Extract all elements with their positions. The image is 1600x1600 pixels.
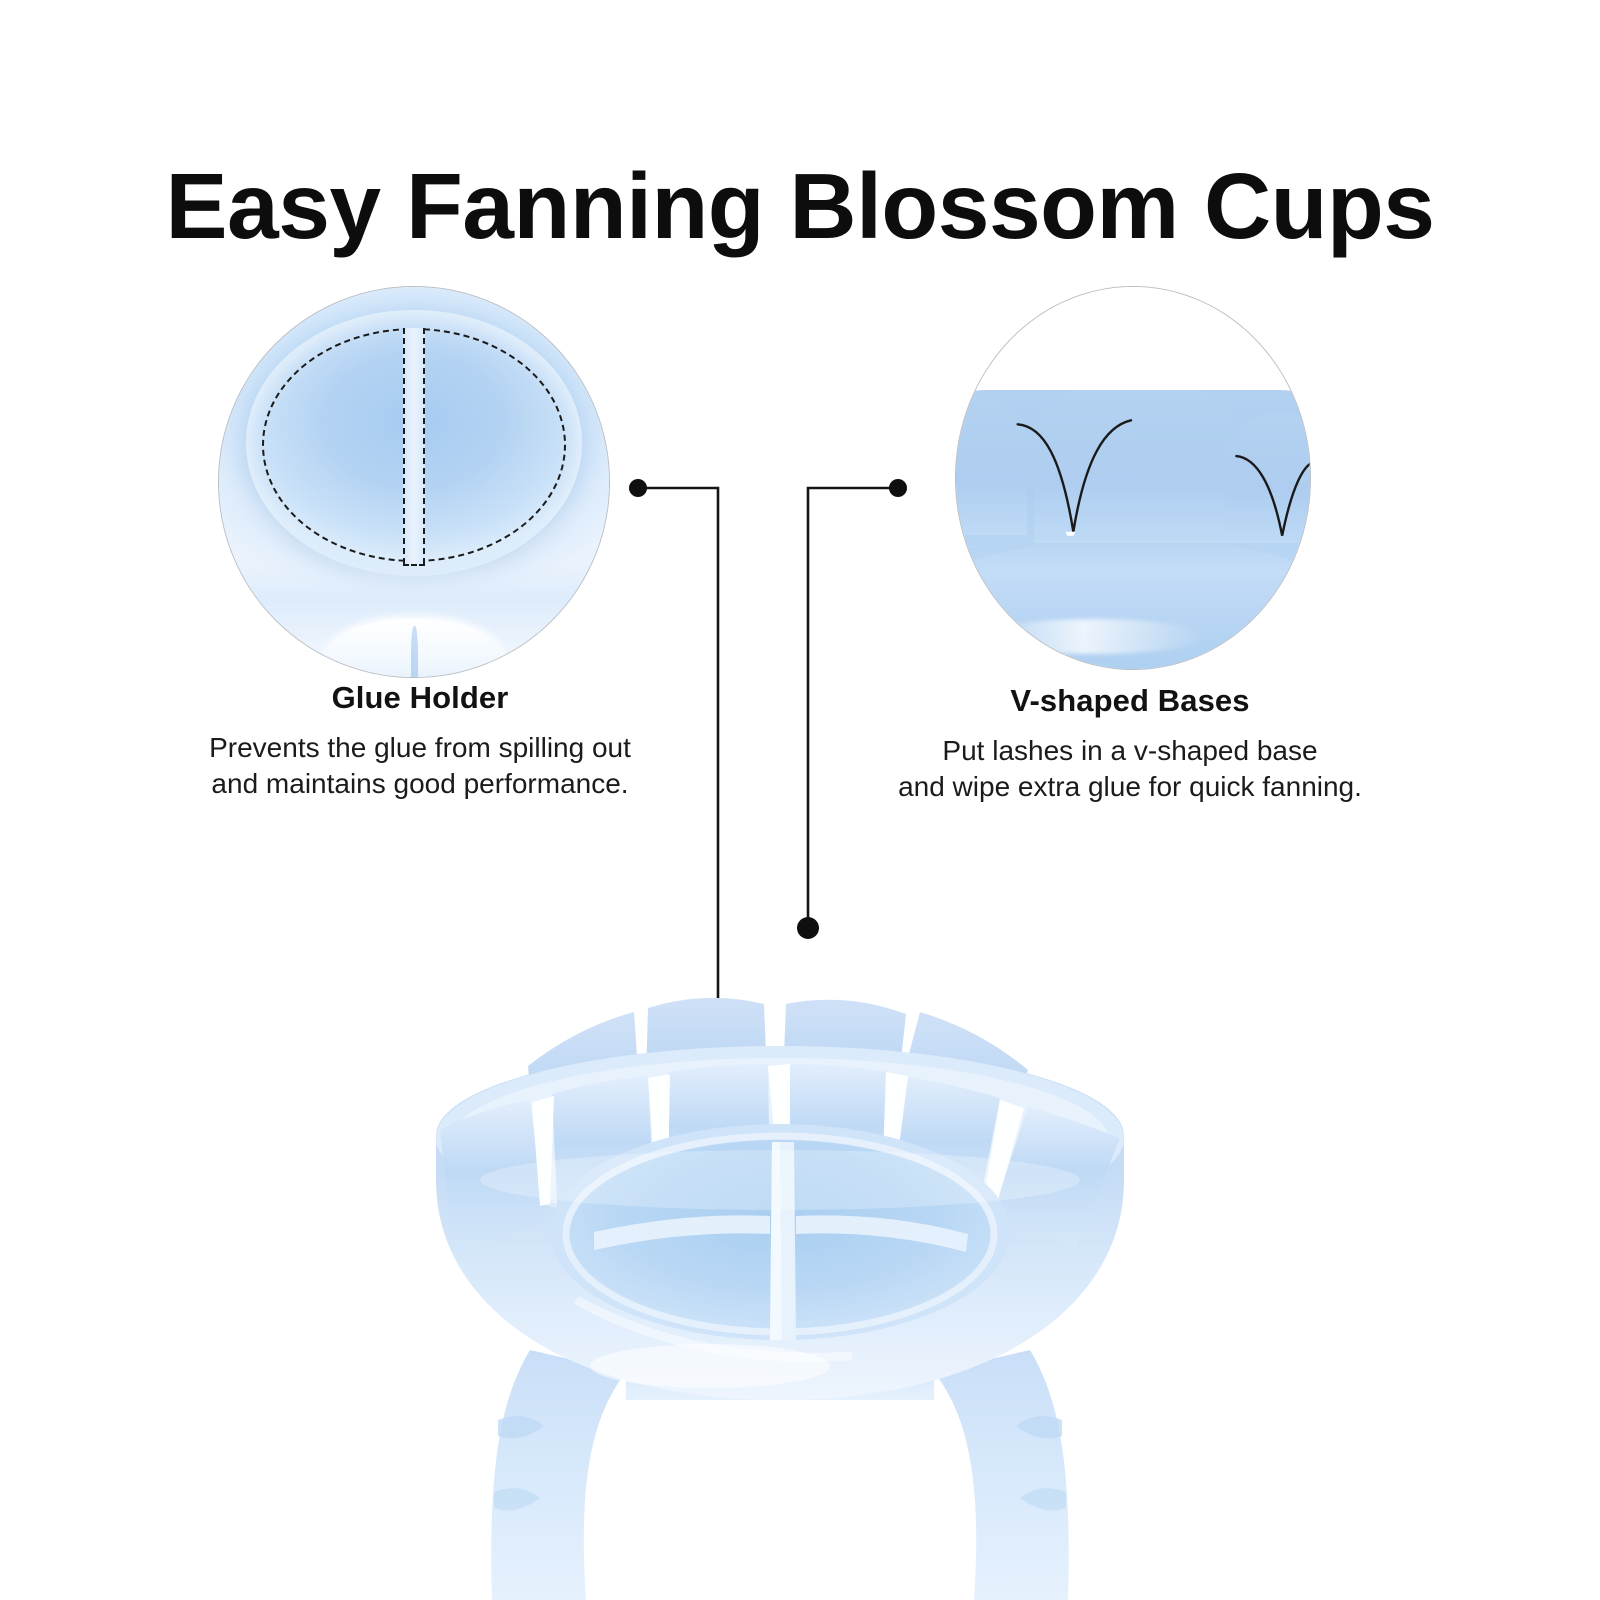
glue-holder-center-divider [403,328,425,564]
caption-line-1: Prevents the glue from spilling out [140,730,700,766]
caption-description-glue-holder: Prevents the glue from spilling out and … [140,730,700,802]
caption-heading-glue-holder: Glue Holder [140,680,700,716]
caption-line-1: Put lashes in a v-shaped base [840,733,1420,769]
callout-image-v-shaped-bases [955,286,1311,670]
caption-description-v-shaped-bases: Put lashes in a v-shaped base and wipe e… [840,733,1420,805]
page-title: Easy Fanning Blossom Cups [0,158,1600,256]
caption-glue-holder: Glue Holder Prevents the glue from spill… [140,680,700,802]
blossom-cup-illustration [380,880,1180,1600]
caption-line-2: and maintains good performance. [140,766,700,802]
v-notch-outline-overlay [956,287,1310,669]
caption-heading-v-shaped-bases: V-shaped Bases [840,683,1420,719]
callout-image-glue-holder [218,286,610,678]
leader-dot-glue-holder-origin [629,479,647,497]
leader-dot-v-base-origin [889,479,907,497]
glue-holder-bottom-notch [411,626,417,678]
product-photo-blossom-cup-ring [380,880,1180,1600]
caption-line-2: and wipe extra glue for quick fanning. [840,769,1420,805]
caption-v-shaped-bases: V-shaped Bases Put lashes in a v-shaped … [840,683,1420,805]
